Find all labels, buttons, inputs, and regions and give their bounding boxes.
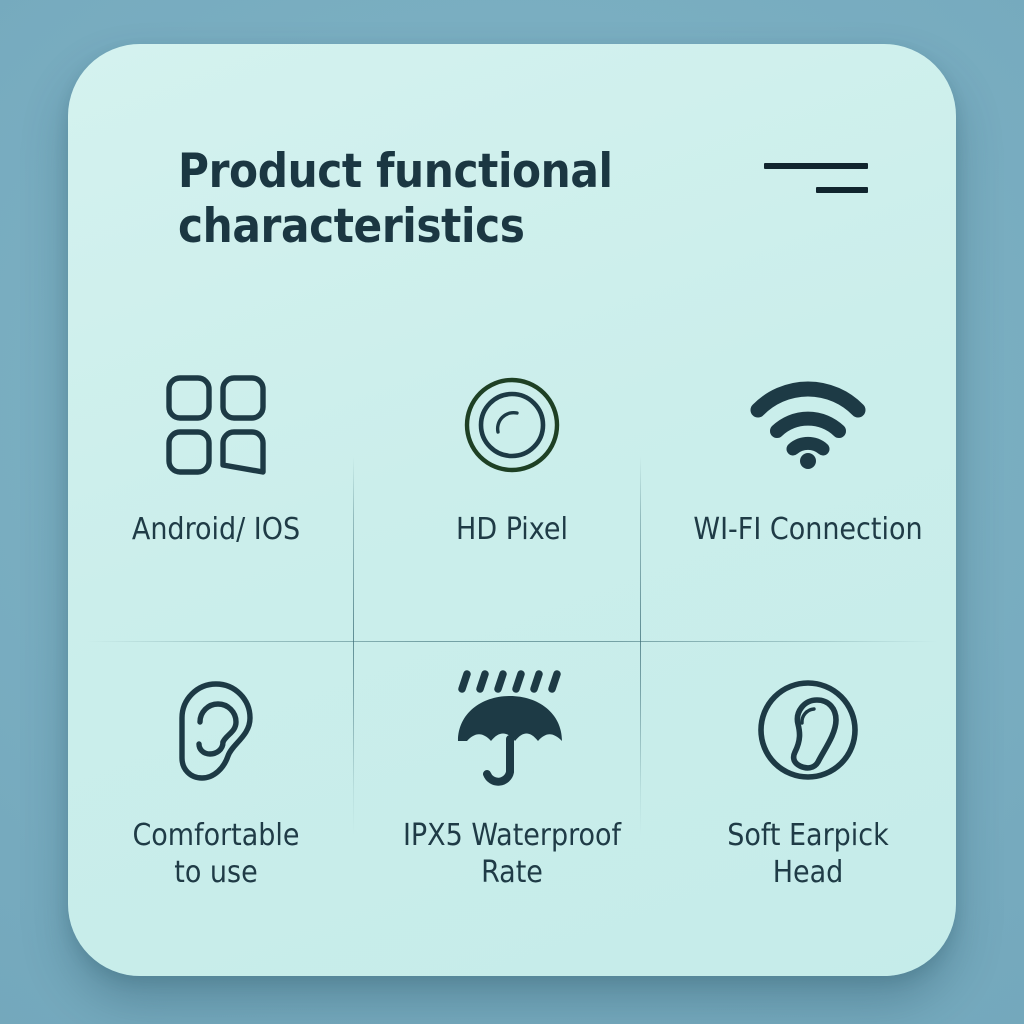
feature-label: Soft Earpick Head	[727, 818, 889, 891]
feature-row-1: Android/ IOS HD Pixel	[68, 360, 956, 640]
feature-cell-earpick-head[interactable]: Soft Earpick Head	[660, 660, 956, 930]
feature-cell-wifi[interactable]: WI-FI Connection	[660, 360, 956, 640]
feature-label: Comfortable to use	[132, 818, 299, 891]
menu-icon-bar-bottom	[816, 187, 868, 193]
card-header: Product functional characteristics	[68, 44, 956, 304]
feature-label: WI-FI Connection	[693, 512, 922, 549]
page-title: Product functional characteristics	[178, 144, 698, 254]
feature-label: Android/ IOS	[132, 512, 300, 549]
wifi-icon	[752, 360, 864, 490]
feature-label: HD Pixel	[456, 512, 568, 549]
feature-row-2: Comfortable to use	[68, 660, 956, 930]
ear-icon	[170, 660, 262, 800]
feature-grid: Android/ IOS HD Pixel	[68, 330, 956, 930]
grid-divider-horizontal	[86, 641, 938, 642]
earpick-head-icon	[754, 660, 862, 800]
product-features-card: Product functional characteristics	[68, 44, 956, 976]
feature-label: IPX5 Waterproof Rate	[403, 818, 621, 891]
screenshot-stage: Product functional characteristics	[0, 0, 1024, 1024]
feature-cell-comfortable[interactable]: Comfortable to use	[68, 660, 364, 930]
feature-cell-android-ios[interactable]: Android/ IOS	[68, 360, 364, 640]
menu-icon-bar-top	[764, 163, 868, 169]
camera-lens-icon	[462, 360, 562, 490]
umbrella-rain-icon	[453, 660, 571, 800]
feature-cell-hd-pixel[interactable]: HD Pixel	[364, 360, 660, 640]
app-grid-icon	[164, 360, 268, 490]
menu-icon[interactable]	[764, 156, 868, 200]
feature-cell-waterproof[interactable]: IPX5 Waterproof Rate	[364, 660, 660, 930]
